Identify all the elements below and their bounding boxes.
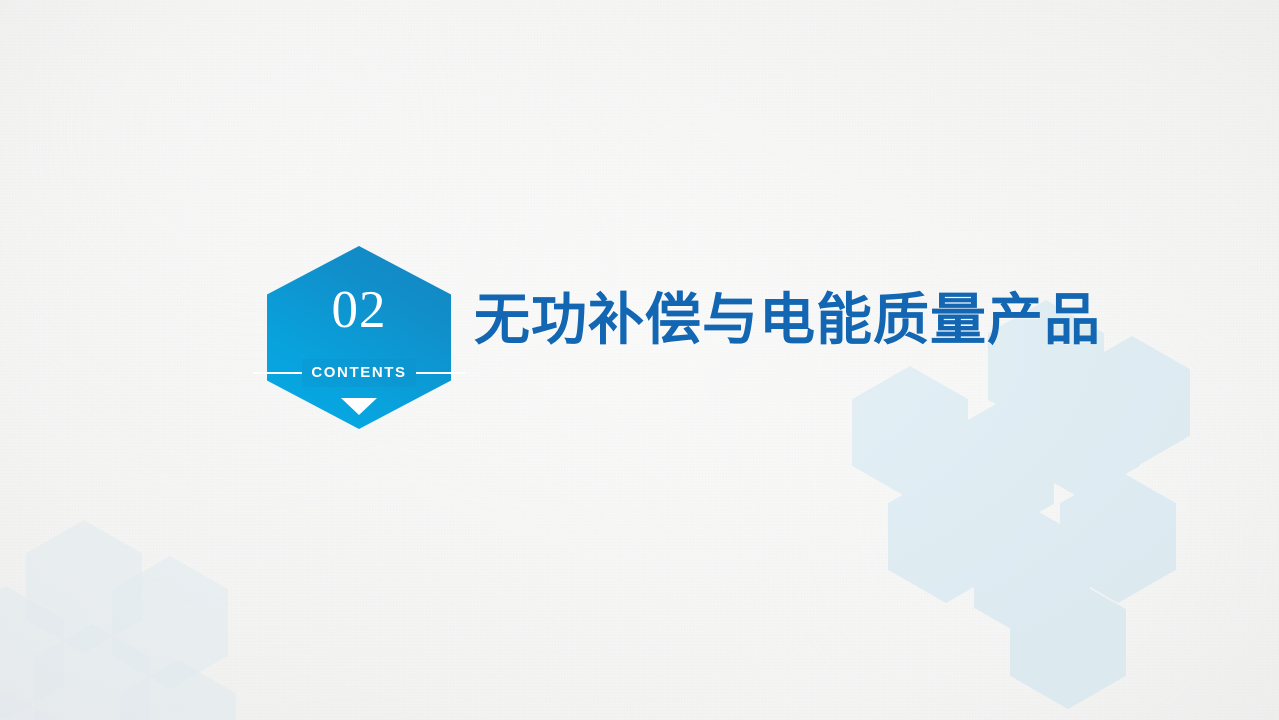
honeycomb-hexagon [974, 508, 1090, 641]
honeycomb-hexagon [852, 366, 968, 499]
honeycomb-hexagon [26, 520, 142, 653]
honeycomb-hexagon [120, 660, 236, 720]
paper-texture-overlay [0, 0, 1279, 720]
honeycomb-hexagon [1024, 366, 1140, 499]
honeycomb-hexagon [938, 404, 1054, 537]
honeycomb-hexagon [112, 556, 228, 689]
section-number: 02 [267, 284, 451, 337]
page-title: 无功补偿与电能质量产品 [474, 287, 1101, 353]
honeycomb-decoration-right [852, 300, 1279, 680]
vignette-overlay [0, 0, 1279, 720]
honeycomb-hexagon [34, 624, 150, 720]
triangle-down-icon [341, 398, 377, 415]
honeycomb-hexagon [1074, 336, 1190, 469]
slide-canvas: 02 CONTENTS 无功补偿与电能质量产品 [0, 0, 1279, 720]
honeycomb-hexagon [888, 470, 1004, 603]
badge-caption: CONTENTS [302, 359, 415, 387]
honeycomb-hexagon [1010, 576, 1126, 709]
honeycomb-hexagon [0, 586, 64, 719]
honeycomb-decoration-left [0, 520, 248, 720]
honeycomb-hexagon [1060, 470, 1176, 603]
section-number-badge: 02 CONTENTS [267, 246, 451, 429]
badge-caption-wrapper: CONTENTS [267, 359, 451, 387]
honeycomb-hexagon [0, 690, 64, 720]
